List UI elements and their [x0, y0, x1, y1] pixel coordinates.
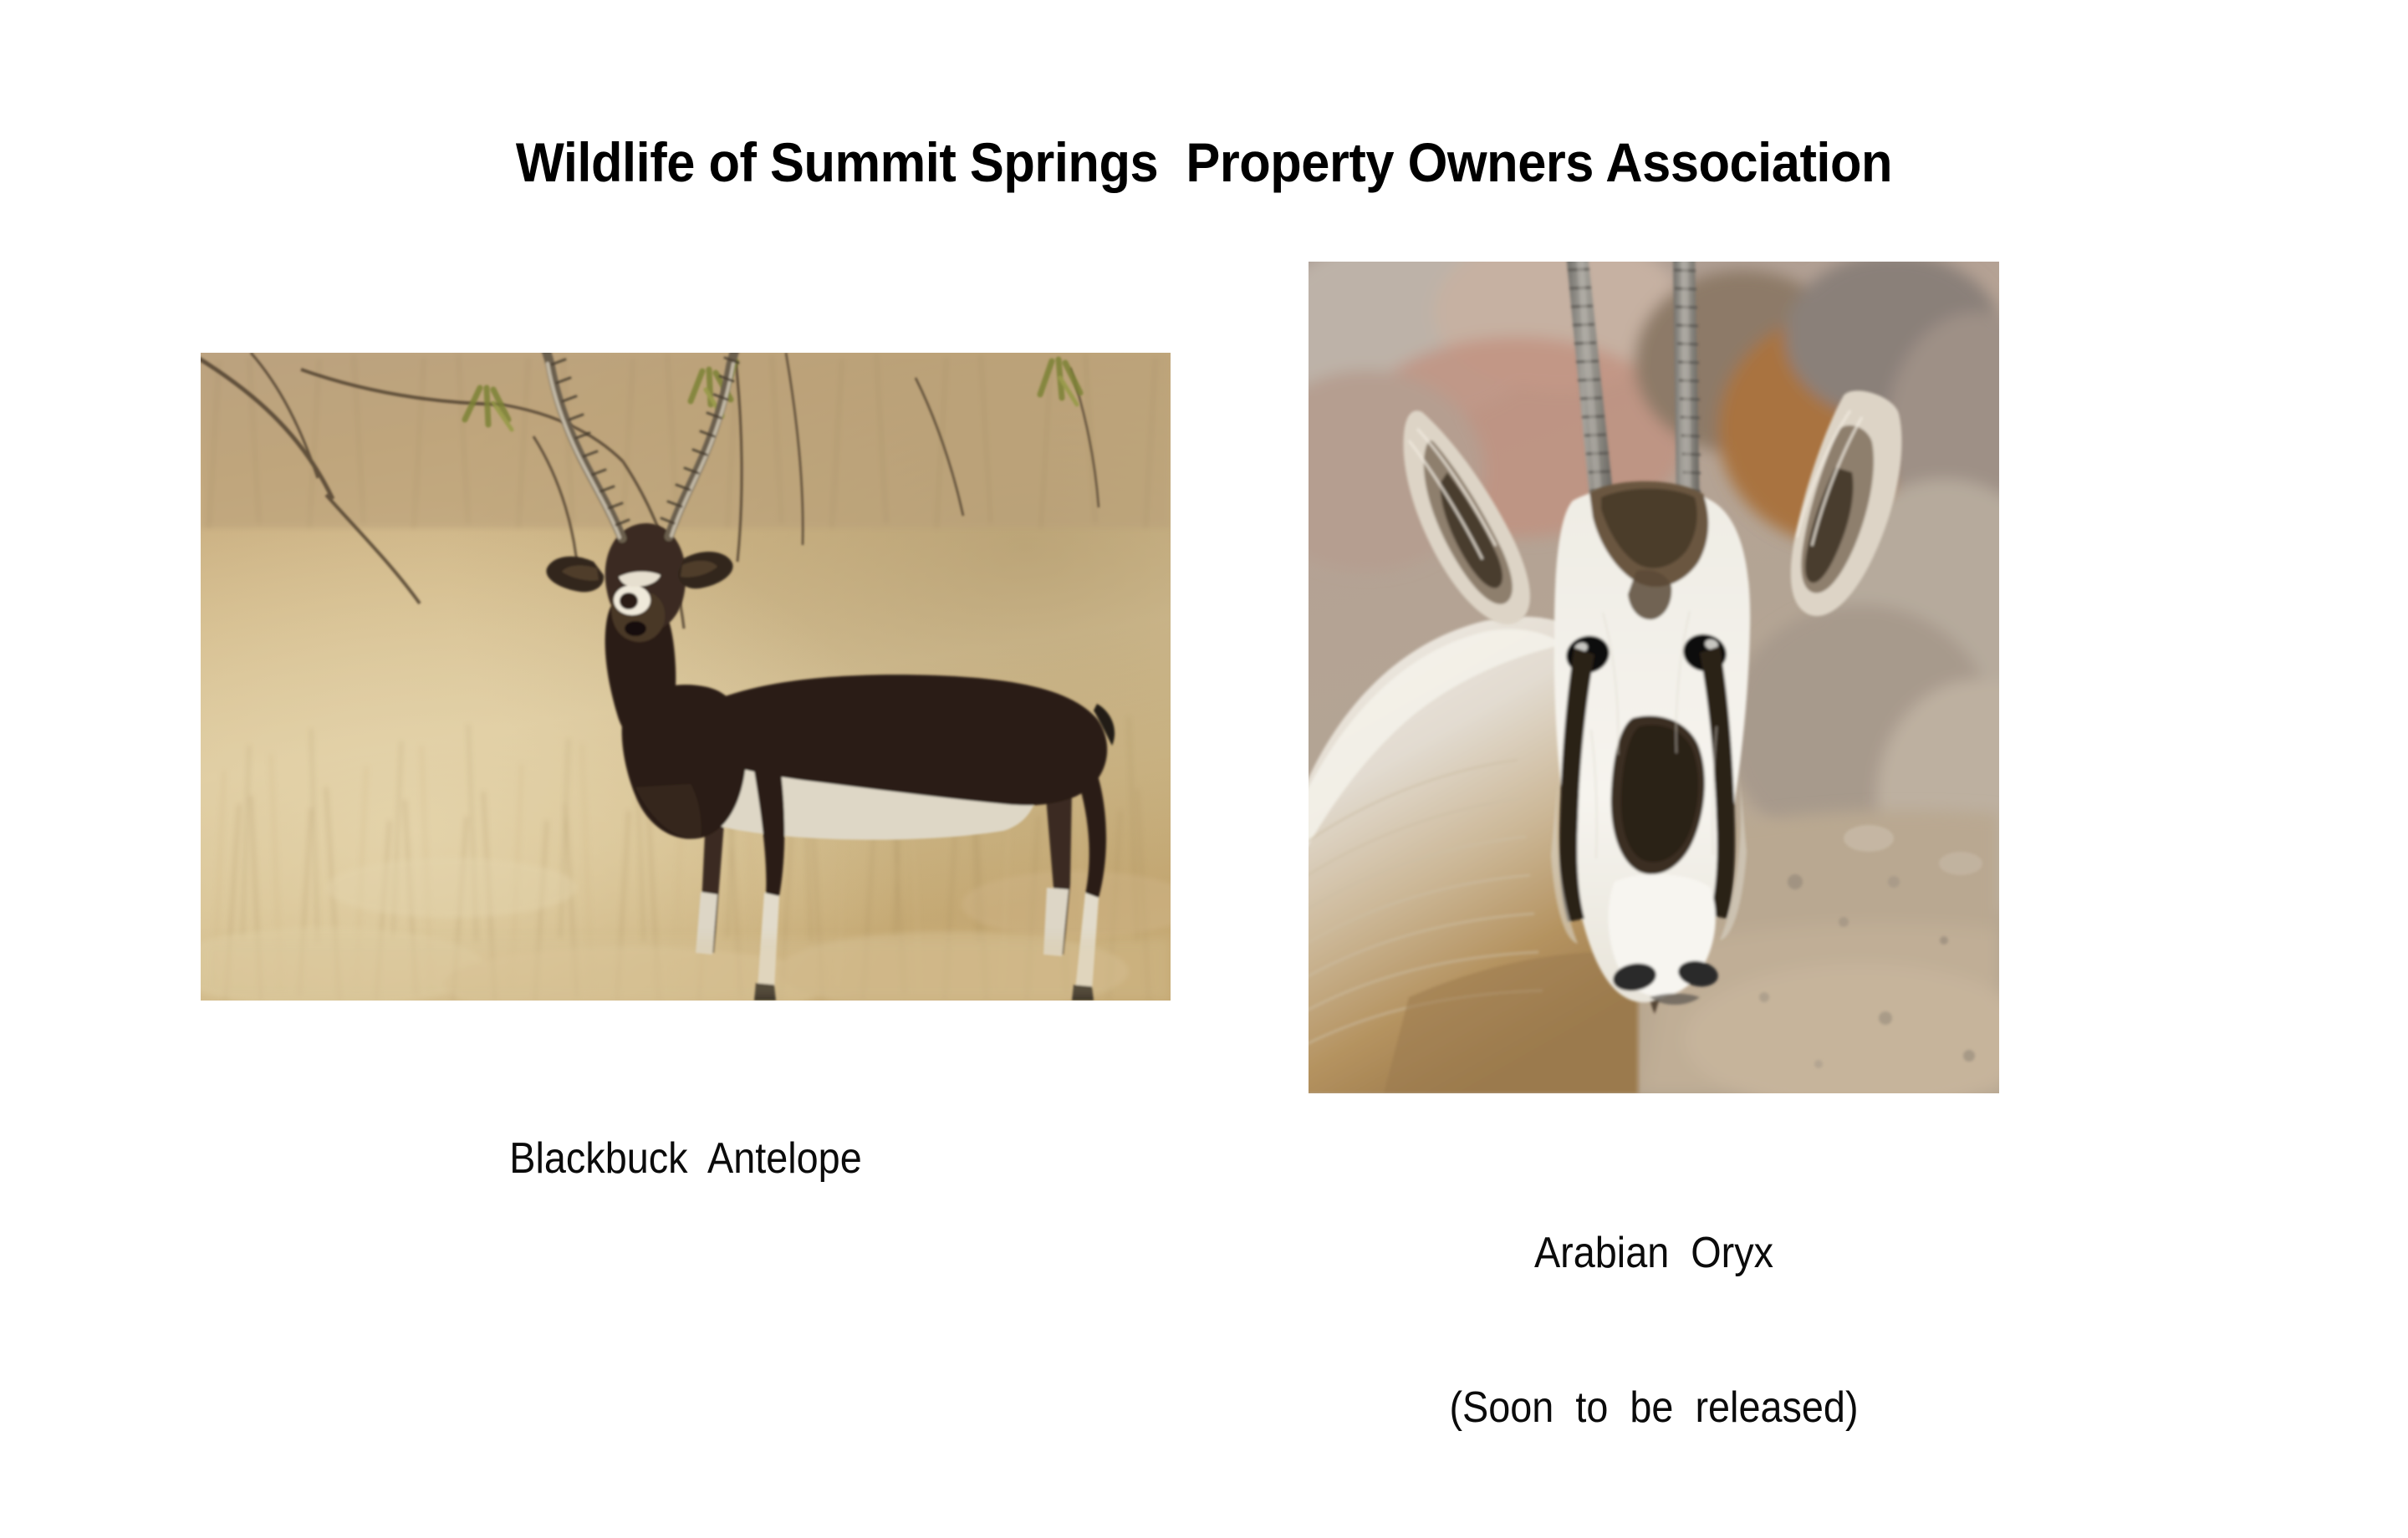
slide-canvas: Wildlife of Summit Springs Property Owne… — [0, 0, 2408, 1352]
oryx-caption: Arabian Oryx (Soon to be released) — [1343, 1124, 1964, 1538]
oryx-caption-line-1: Arabian Oryx — [1343, 1228, 1964, 1280]
blackbuck-caption-line-1: Blackbuck Antelope — [249, 1133, 1122, 1185]
page-title: Wildlife of Summit Springs Property Owne… — [84, 134, 2324, 192]
oryx-caption-line-2: (Soon to be released) — [1343, 1383, 1964, 1434]
blackbuck-photo — [201, 353, 1171, 1001]
blackbuck-caption: Blackbuck Antelope — [249, 1030, 1122, 1288]
oryx-photo — [1309, 262, 1999, 1093]
